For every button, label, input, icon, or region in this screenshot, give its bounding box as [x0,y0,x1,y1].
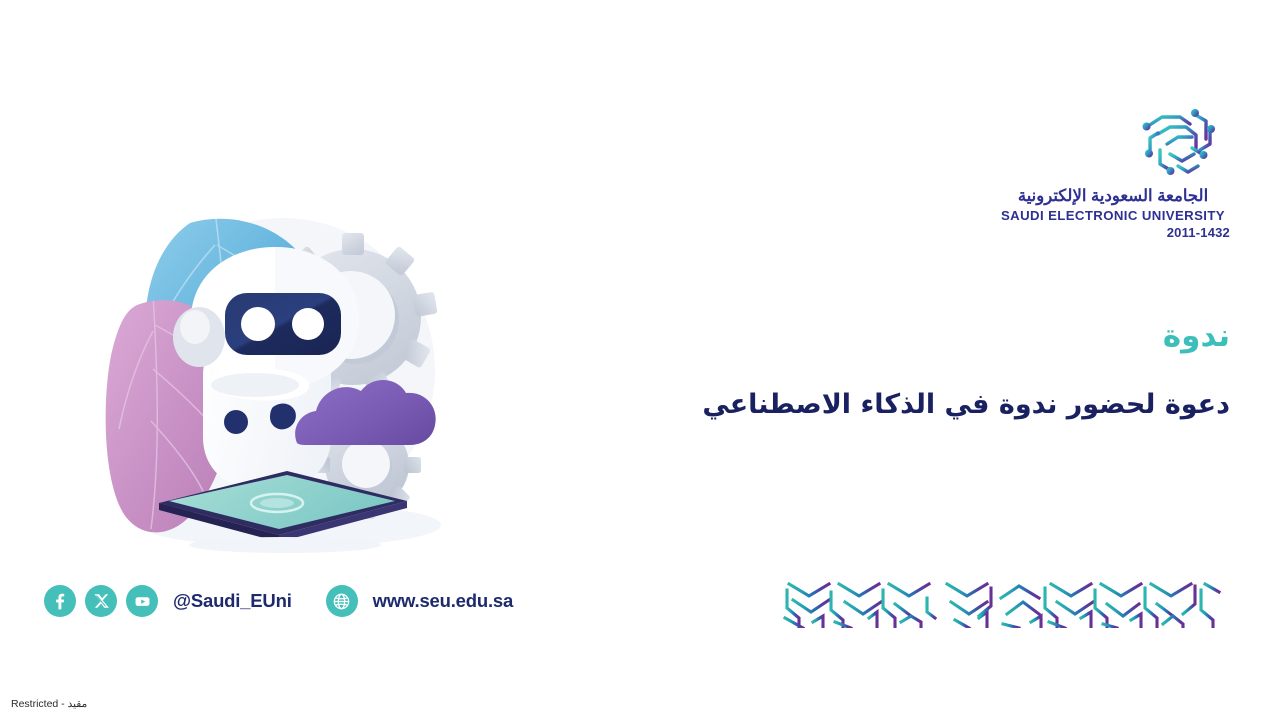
x-twitter-icon[interactable] [85,585,117,617]
logo-year: 2011-1432 [994,224,1232,242]
logo-name-english: SAUDI ELECTRONIC UNIVERSITY [994,207,1232,224]
event-type-kicker: ندوة [530,318,1230,355]
page-title: دعوة لحضور ندوة في الذكاء الاصطناعي [530,387,1230,422]
ai-robot-chatbot-illustration [95,185,465,555]
logo-name-arabic: الجامعة السعودية الإلكترونية [994,186,1232,207]
footer-social-bar: @Saudi_EUni www.seu.edu.sa [44,585,513,617]
university-logo: الجامعة السعودية الإلكترونية SAUDI ELECT… [972,104,1232,241]
seu-hexagon-circuit-logo-mark [1136,104,1224,184]
social-handle: @Saudi_EUni [173,590,292,612]
website-url: www.seu.edu.sa [373,590,513,612]
slide-canvas: الجامعة السعودية الإلكترونية SAUDI ELECT… [0,0,1280,720]
headline-block: ندوة دعوة لحضور ندوة في الذكاء الاصطناعي [530,318,1230,422]
classification-label: Restricted - مقيد [11,698,87,710]
facebook-icon[interactable] [44,585,76,617]
ground-shadow [189,537,381,553]
youtube-icon[interactable] [126,585,158,617]
globe-icon[interactable] [326,585,358,617]
circuit-hexagon-pattern [783,578,1228,628]
